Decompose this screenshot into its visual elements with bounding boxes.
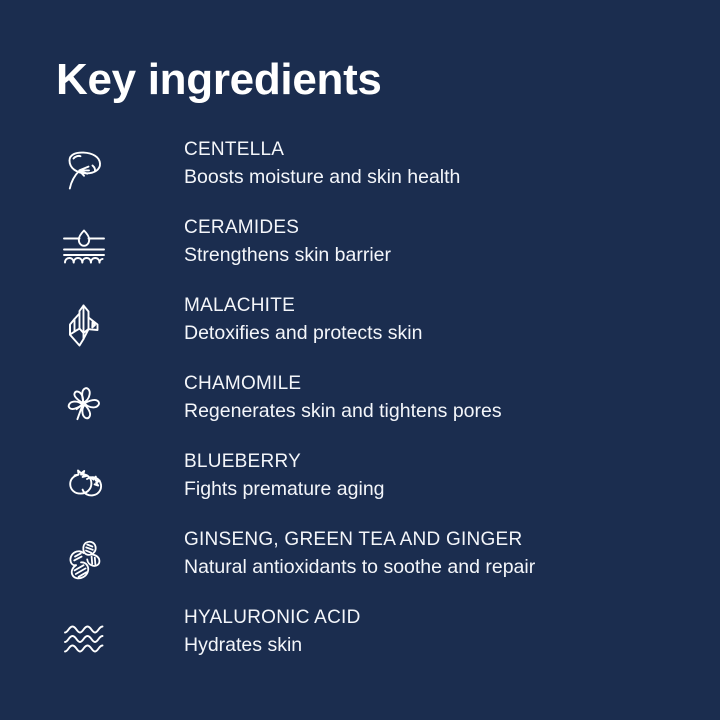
ingredient-description: Regenerates skin and tightens pores xyxy=(184,401,502,421)
ingredient-text: HYALURONIC ACID Hydrates skin xyxy=(126,604,361,655)
ingredients-panel: Key ingredients CENTELLA Boosts moisture… xyxy=(0,0,720,720)
ingredient-description: Boosts moisture and skin health xyxy=(184,167,460,187)
page-title: Key ingredients xyxy=(56,57,382,103)
ingredient-text: CERAMIDES Strengthens skin barrier xyxy=(126,214,391,265)
ingredient-description: Fights premature aging xyxy=(184,479,385,499)
ingredient-text: GINSENG, GREEN TEA AND GINGER Natural an… xyxy=(126,526,535,577)
skin-layers-icon xyxy=(56,214,126,278)
list-item: MALACHITE Detoxifies and protects skin xyxy=(0,292,720,370)
ingredient-list: CENTELLA Boosts moisture and skin health xyxy=(0,136,720,682)
ingredient-name: GINSENG, GREEN TEA AND GINGER xyxy=(184,530,535,549)
ingredient-description: Strengthens skin barrier xyxy=(184,245,391,265)
list-item: HYALURONIC ACID Hydrates skin xyxy=(0,604,720,682)
berries-icon xyxy=(56,448,126,512)
flower-icon xyxy=(56,370,126,434)
list-item: CENTELLA Boosts moisture and skin health xyxy=(0,136,720,214)
list-item: CERAMIDES Strengthens skin barrier xyxy=(0,214,720,292)
ingredient-name: HYALURONIC ACID xyxy=(184,608,361,627)
ingredient-text: BLUEBERRY Fights premature aging xyxy=(126,448,385,499)
ingredient-description: Detoxifies and protects skin xyxy=(184,323,422,343)
water-waves-icon xyxy=(56,604,126,668)
ingredient-name: BLUEBERRY xyxy=(184,452,385,471)
ginger-root-icon xyxy=(56,526,126,590)
ingredient-text: CENTELLA Boosts moisture and skin health xyxy=(126,136,460,187)
ingredient-name: CHAMOMILE xyxy=(184,374,502,393)
ingredient-description: Natural antioxidants to soothe and repai… xyxy=(184,557,535,577)
mineral-crystal-icon xyxy=(56,292,126,356)
list-item: GINSENG, GREEN TEA AND GINGER Natural an… xyxy=(0,526,720,604)
ingredient-name: CERAMIDES xyxy=(184,218,391,237)
ingredient-text: CHAMOMILE Regenerates skin and tightens … xyxy=(126,370,502,421)
list-item: CHAMOMILE Regenerates skin and tightens … xyxy=(0,370,720,448)
leaf-icon xyxy=(56,136,126,200)
list-item: BLUEBERRY Fights premature aging xyxy=(0,448,720,526)
ingredient-description: Hydrates skin xyxy=(184,635,361,655)
ingredient-name: CENTELLA xyxy=(184,140,460,159)
ingredient-name: MALACHITE xyxy=(184,296,422,315)
ingredient-text: MALACHITE Detoxifies and protects skin xyxy=(126,292,422,343)
